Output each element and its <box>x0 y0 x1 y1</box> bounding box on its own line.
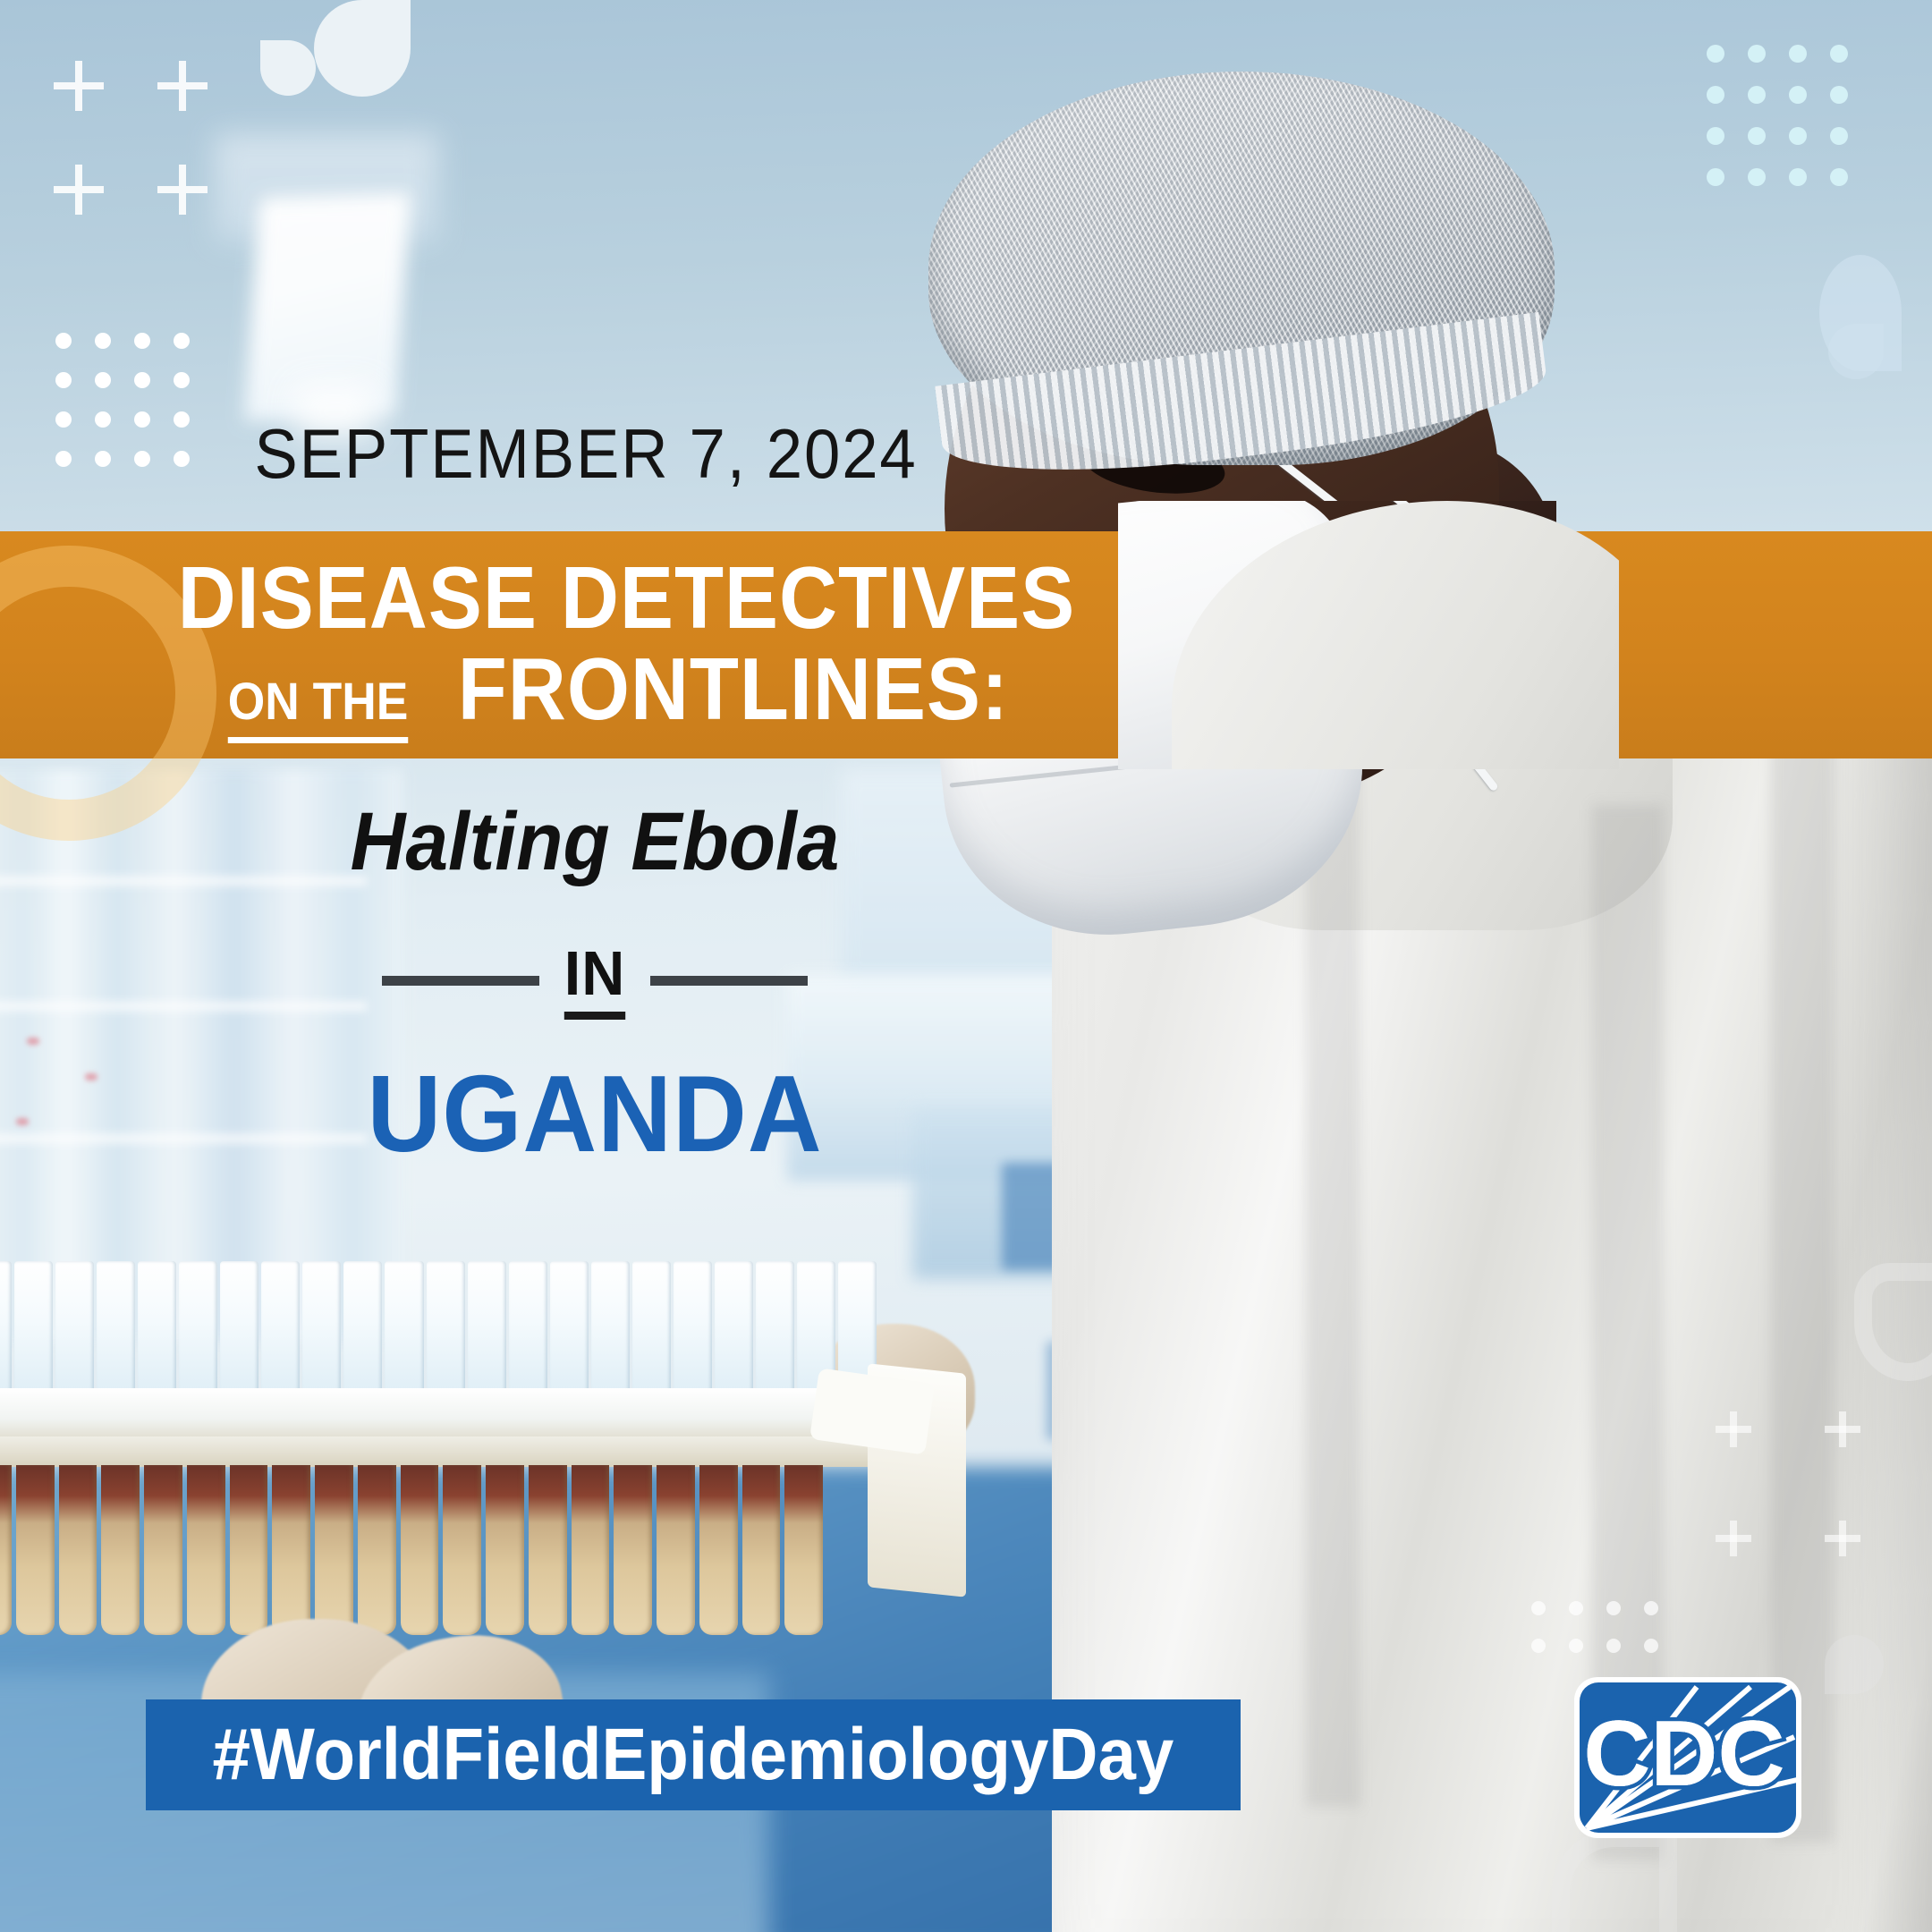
lab-worker <box>966 54 1932 1932</box>
title-line-2: FRONTLINES: <box>457 645 1008 733</box>
indicator-light <box>16 1118 29 1125</box>
worker-over-banner <box>1118 501 1619 769</box>
gown-fold <box>1771 680 1834 1843</box>
date-label: SEPTEMBER 7, 2024 <box>41 413 1131 495</box>
subtitle-line-1: Halting Ebola <box>141 801 1048 883</box>
subtitle-connector-row: IN <box>107 942 1082 1020</box>
rule-right <box>650 976 808 986</box>
cdc-logo: CDC CDC <box>1572 1674 1804 1841</box>
hashtag-banner: #WorldFieldEpidemiologyDay <box>146 1699 1241 1810</box>
subtitle-connector: IN <box>564 942 625 1020</box>
hashtag-text: #WorldFieldEpidemiologyDay <box>213 1718 1174 1792</box>
title-line-2-row: ON THE FRONTLINES: <box>220 645 1033 743</box>
subtitle-country: UGANDA <box>137 1059 1054 1168</box>
subtitle-block: Halting Ebola IN UGANDA <box>107 801 1082 1168</box>
tube-bodies-row <box>0 1465 823 1635</box>
indicator-light <box>85 1073 97 1080</box>
rule-left <box>382 976 539 986</box>
gown-fold <box>1306 733 1360 1807</box>
social-poster: SEPTEMBER 7, 2024 DISEASE DETECTIVES ON … <box>0 0 1932 1932</box>
rack-top-bar <box>0 1388 899 1444</box>
title-banner-text: DISEASE DETECTIVES ON THE FRONTLINES: <box>0 537 1252 760</box>
tube-caps-row <box>0 1261 877 1395</box>
title-prefix-on-the: ON THE <box>227 676 408 743</box>
svg-text:CDC: CDC <box>1583 1702 1784 1806</box>
title-line-1: DISEASE DETECTIVES <box>177 554 1075 641</box>
cdc-logo-icon: CDC CDC <box>1572 1674 1804 1841</box>
rack-mid-bar <box>0 1436 899 1467</box>
specimen-tube-rack <box>0 1261 939 1682</box>
indicator-light <box>27 1038 39 1045</box>
